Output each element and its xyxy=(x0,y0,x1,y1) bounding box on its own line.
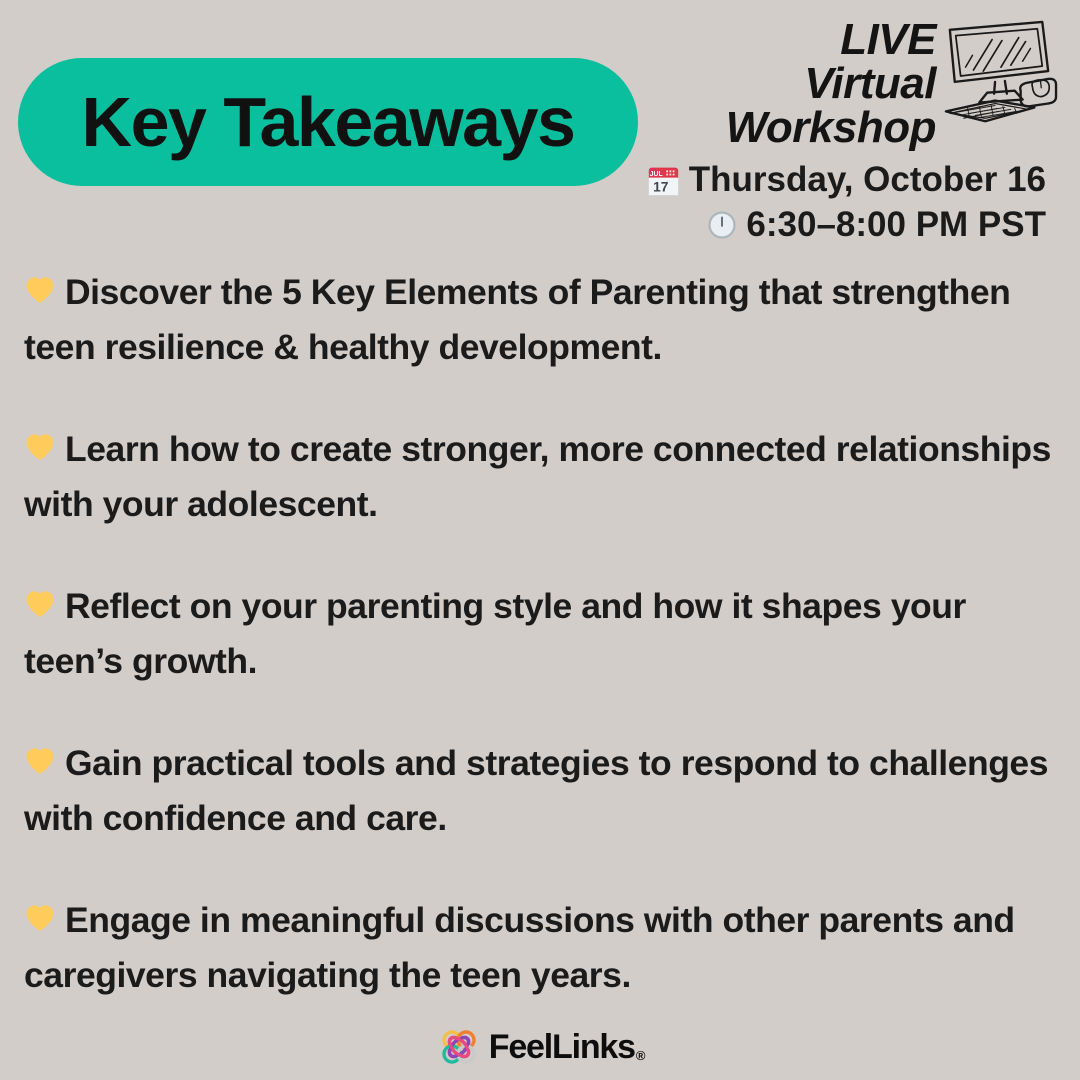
list-item-text: Discover the 5 Key Elements of Parenting… xyxy=(24,272,1010,367)
list-item: Gain practical tools and strategies to r… xyxy=(24,737,1060,844)
workshop-label: LIVE Virtual Workshop xyxy=(726,14,936,150)
feellinks-flower-logo-icon xyxy=(436,1024,482,1070)
calendar-icon: JUL 17 xyxy=(647,164,680,197)
workshop-label-line-1: LIVE xyxy=(726,18,936,62)
yellow-heart-icon xyxy=(24,582,56,635)
svg-text:JUL: JUL xyxy=(649,171,662,178)
list-item-text: Engage in meaningful discussions with ot… xyxy=(24,900,1015,995)
brand-name: FeelLinks xyxy=(489,1028,635,1066)
header: Key Takeaways LIVE Virtual Workshop xyxy=(0,0,1080,260)
yellow-heart-icon xyxy=(24,739,56,792)
footer-logo: FeelLinks® xyxy=(0,1024,1080,1070)
event-time-row: 6:30–8:00 PM PST xyxy=(647,203,1046,248)
event-date-text: Thursday, October 16 xyxy=(689,158,1046,203)
brand-wordmark: FeelLinks® xyxy=(489,1028,644,1067)
list-item-text: Gain practical tools and strategies to r… xyxy=(24,743,1048,838)
trademark-symbol: ® xyxy=(636,1048,644,1063)
svg-text:17: 17 xyxy=(653,179,669,194)
yellow-heart-icon xyxy=(24,896,56,949)
list-item-text: Reflect on your parenting style and how … xyxy=(24,586,966,681)
event-time-text: 6:30–8:00 PM PST xyxy=(746,203,1046,248)
list-item: Discover the 5 Key Elements of Parenting… xyxy=(24,266,1060,373)
yellow-heart-icon xyxy=(24,268,56,321)
workshop-banner: LIVE Virtual Workshop xyxy=(648,14,1058,150)
page-title: Key Takeaways xyxy=(82,87,575,157)
yellow-heart-icon xyxy=(24,425,56,478)
event-details: JUL 17 Thursday, October 16 6:30–8:00 P xyxy=(647,158,1046,248)
workshop-label-line-3: Workshop xyxy=(726,106,936,150)
list-item: Reflect on your parenting style and how … xyxy=(24,580,1060,687)
list-item: Learn how to create stronger, more conne… xyxy=(24,423,1060,530)
clock-icon xyxy=(707,210,737,240)
page-title-pill: Key Takeaways xyxy=(18,58,638,186)
workshop-label-line-2: Virtual xyxy=(726,62,936,106)
desktop-computer-sketch-icon xyxy=(940,16,1058,134)
takeaways-list: Discover the 5 Key Elements of Parenting… xyxy=(24,266,1060,1001)
event-date-row: JUL 17 Thursday, October 16 xyxy=(647,158,1046,203)
list-item-text: Learn how to create stronger, more conne… xyxy=(24,429,1051,524)
list-item: Engage in meaningful discussions with ot… xyxy=(24,894,1060,1001)
